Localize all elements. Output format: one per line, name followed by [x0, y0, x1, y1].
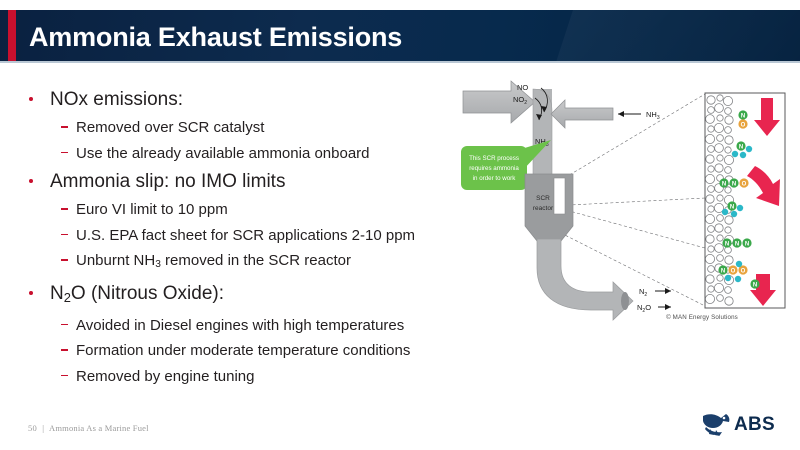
bullet-level2: Euro VI limit to 10 ppm: [20, 197, 465, 223]
bullet-dash-icon: [61, 349, 68, 351]
bullet-dash-icon: [61, 208, 68, 210]
svg-text:N: N: [730, 204, 734, 210]
scr-process-diagram: NH3 NO NO2 NH3 This SCR process requires…: [455, 78, 790, 333]
bullet-level2: Avoided in Diesel engines with high temp…: [20, 313, 465, 339]
callout-line-2: requires ammonia: [469, 165, 519, 172]
svg-text:N: N: [732, 181, 736, 187]
header-underline: [0, 61, 800, 63]
no-label: NO: [517, 83, 528, 92]
bullet-text: Formation under moderate temperature con…: [76, 342, 410, 359]
scr-reactor: SCR reactor: [525, 174, 573, 241]
diagram-credit: © MAN Energy Solutions: [612, 314, 792, 321]
abs-logo: ABS: [700, 412, 790, 438]
svg-text:N: N: [741, 113, 745, 119]
header-red-accent: [8, 10, 16, 61]
bullet-text: Avoided in Diesel engines with high temp…: [76, 317, 404, 334]
bullet-dot-icon: [29, 179, 33, 183]
bullet-level1: N2O (Nitrous Oxide):: [20, 278, 465, 313]
slide-footer: 50 | Ammonia As a Marine Fuel: [28, 423, 149, 433]
magnifier-leader-lines: [551, 94, 705, 306]
bullet-text: Euro VI limit to 10 ppm: [76, 201, 228, 218]
n2-label: N2: [639, 287, 647, 298]
svg-text:O: O: [731, 268, 736, 274]
callout-line-1: This SCR process: [469, 155, 519, 162]
outlet-species-labels: N2 N2O: [637, 287, 671, 314]
bullet-level2: Removed by engine tuning: [20, 364, 465, 390]
reactor-label-line1: SCR: [536, 195, 550, 202]
bullet-text: NOx emissions:: [50, 89, 183, 110]
bullet-dash-icon: [61, 259, 68, 261]
bullet-dot-icon: [29, 291, 33, 295]
bullet-list: NOx emissions: Removed over SCR catalyst…: [20, 84, 465, 389]
svg-text:N: N: [722, 181, 726, 187]
molecule-n-n-o: N N O: [719, 178, 748, 187]
svg-text:O: O: [741, 122, 746, 128]
nh3-inlet-label: NH3: [646, 110, 660, 121]
bullet-text: Unburnt NH3 removed in the SCR reactor: [76, 252, 351, 269]
bullet-level1: Ammonia slip: no IMO limits: [20, 166, 465, 197]
bullet-level2: Removed over SCR catalyst: [20, 115, 465, 141]
slide-title: Ammonia Exhaust Emissions: [29, 22, 402, 53]
catalyst-detail-panel: N O N N N: [705, 93, 785, 308]
footer-separator: |: [42, 423, 44, 433]
bullet-text: Removed by engine tuning: [76, 368, 254, 385]
bullet-level2: U.S. EPA fact sheet for SCR applications…: [20, 223, 465, 249]
bullet-level2: Unburnt NH3 removed in the SCR reactor: [20, 248, 465, 278]
svg-text:O: O: [741, 268, 746, 274]
ammonia-injection-arrow: [551, 100, 641, 128]
svg-text:N: N: [745, 241, 749, 247]
abs-logo-text: ABS: [734, 414, 775, 436]
n2o-label: N2O: [637, 303, 651, 314]
bullet-text: N2O (Nitrous Oxide):: [50, 283, 224, 304]
bullet-text: U.S. EPA fact sheet for SCR applications…: [76, 227, 415, 244]
bullet-text: Use the already available ammonia onboar…: [76, 145, 370, 162]
bullet-level2: Formation under moderate temperature con…: [20, 338, 465, 364]
bullet-dash-icon: [61, 324, 68, 326]
bullet-text: Ammonia slip: no IMO limits: [50, 171, 285, 192]
svg-text:N: N: [735, 241, 739, 247]
deck-title: Ammonia As a Marine Fuel: [49, 423, 149, 433]
molecule-n-single: N: [750, 279, 759, 288]
svg-text:N: N: [739, 144, 743, 150]
outlet-duct-arrow: [537, 239, 633, 320]
molecule-n-n-n: N N N: [722, 238, 751, 247]
svg-text:N: N: [721, 268, 725, 274]
svg-text:N: N: [753, 282, 757, 288]
bullet-dash-icon: [61, 126, 68, 128]
page-number: 50: [28, 423, 37, 433]
bullet-dash-icon: [61, 152, 68, 154]
abs-eagle-icon: [700, 412, 734, 438]
bullet-dot-icon: [29, 97, 33, 101]
reactor-label-line2: reactor: [533, 205, 554, 212]
svg-text:O: O: [742, 181, 747, 187]
bullet-level2: Use the already available ammonia onboar…: [20, 141, 465, 167]
bullet-level1: NOx emissions:: [20, 84, 465, 115]
bullet-text: Removed over SCR catalyst: [76, 119, 264, 136]
svg-text:N: N: [725, 241, 729, 247]
bullet-dash-icon: [61, 234, 68, 236]
callout-line-3: in order to work: [473, 175, 517, 182]
bullet-dash-icon: [61, 375, 68, 377]
